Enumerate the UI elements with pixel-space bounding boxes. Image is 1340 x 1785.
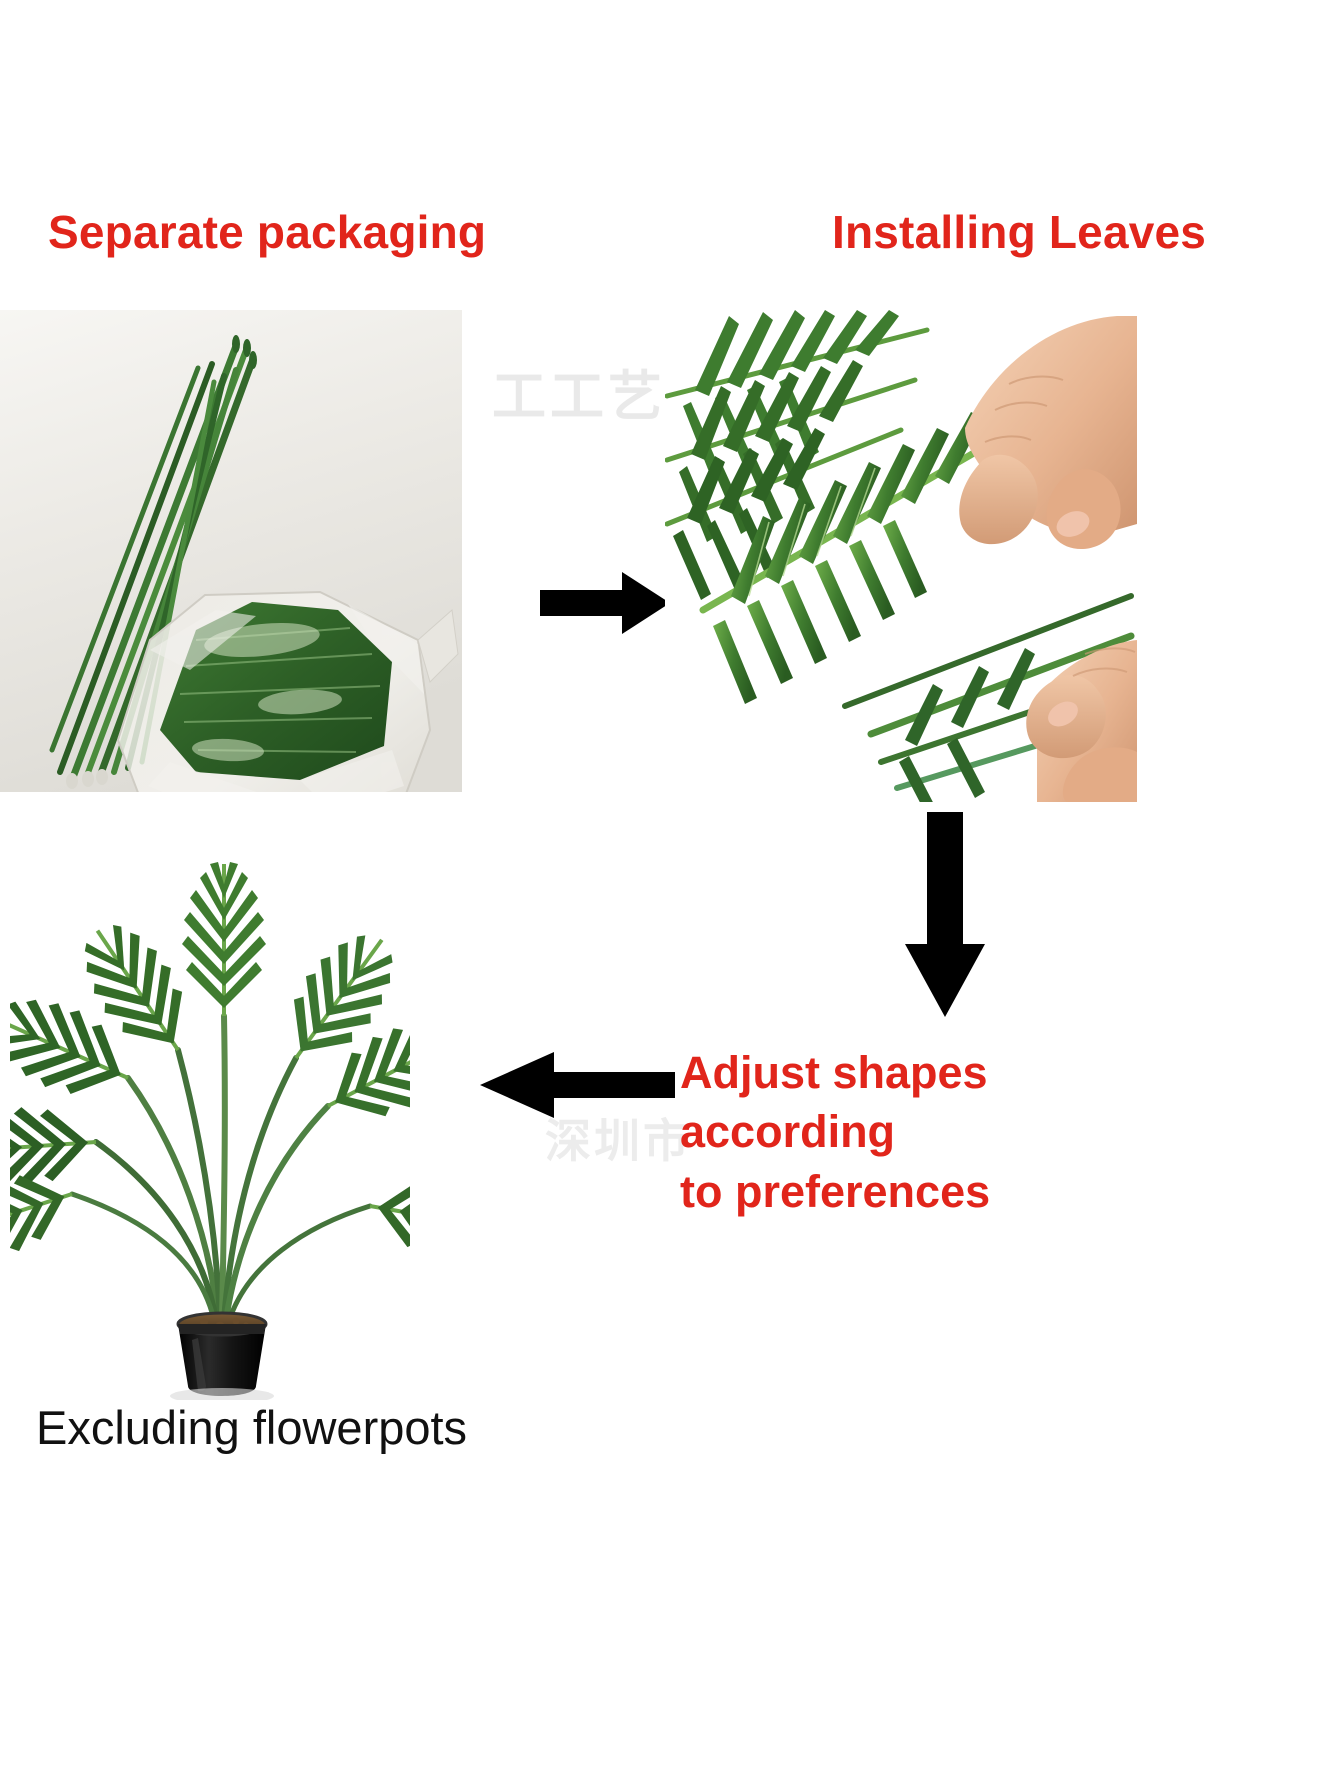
arrow-left-icon [480,1052,675,1118]
step-3-title-line-2: to preferences [680,1162,1160,1221]
step-2-photo-installing-leaves [665,310,1137,802]
step-4-photo-assembled-plant [10,820,410,1400]
step-4-title: Excluding flowerpots [36,1400,467,1455]
step-1-photo-separate-packaging [0,310,462,792]
step-2-title: Installing Leaves [832,208,1206,256]
arrow-down-icon [905,812,985,1017]
step-3-title-line-1: Adjust shapes according [680,1043,1160,1162]
step-1-title: Separate packaging [48,208,486,256]
arrow-right-icon [540,572,670,634]
step-3-title: Adjust shapes according to preferences [680,1043,1160,1221]
infographic-canvas: Separate packaging Installing Leaves 工工艺… [0,0,1340,1785]
